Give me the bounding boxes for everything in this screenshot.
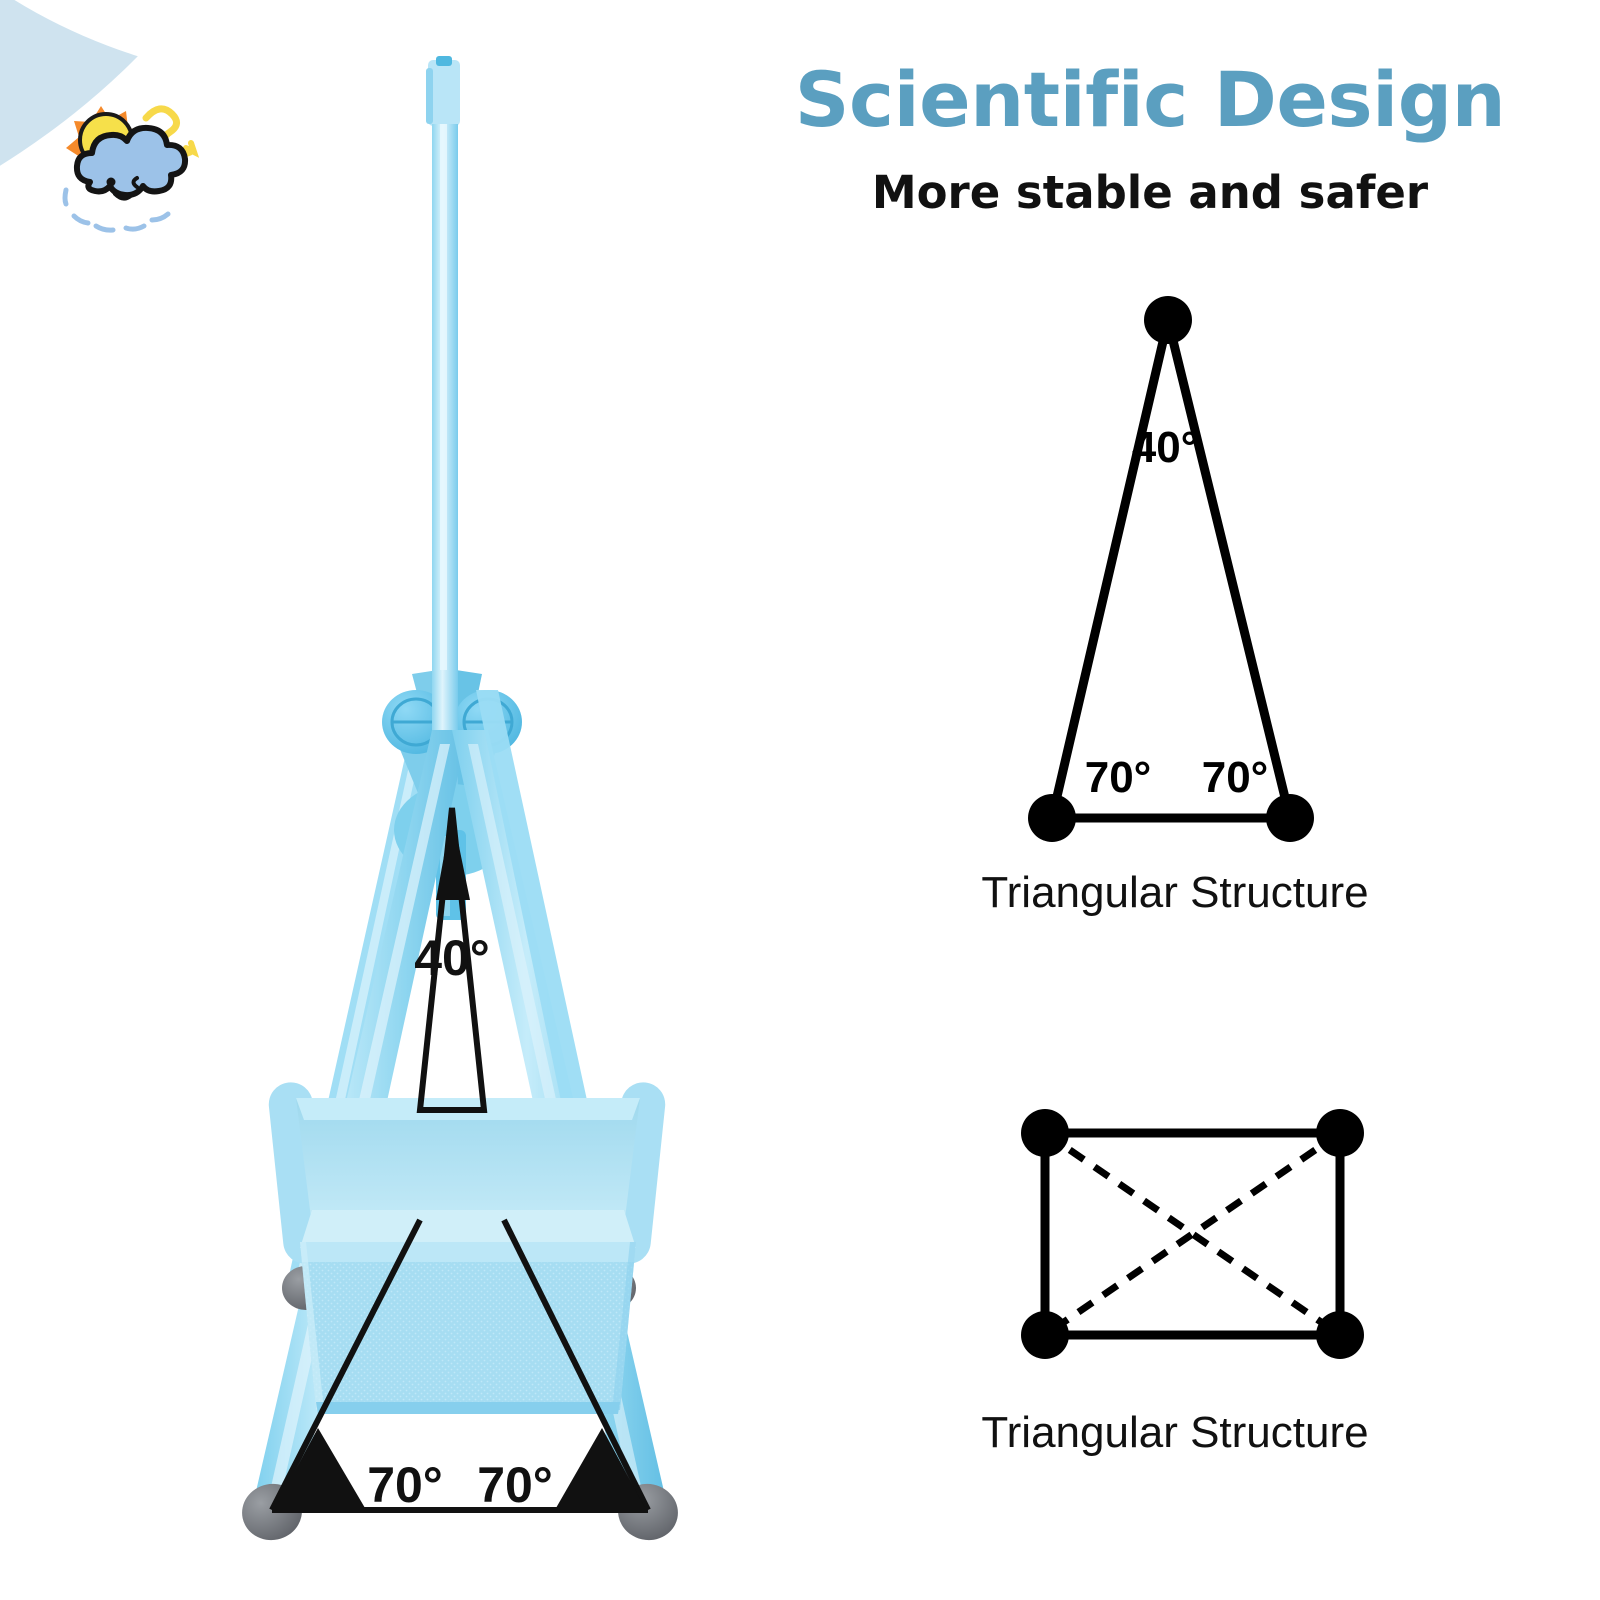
square-vertex-top-right [1316,1109,1364,1157]
page-title: Scientific Design [720,55,1580,144]
triangular-structure-diagram: 40° 70° 70° [950,280,1410,860]
square-structure-diagram [950,1070,1410,1370]
square-vertex-bottom-left [1021,1311,1069,1359]
cloud-eye-left [107,178,116,187]
left-foot-angle-label: 70° [367,1457,443,1513]
page-subtitle: More stable and safer [720,166,1580,219]
triangular-structure-caption: Triangular Structure [895,868,1455,918]
triangle-apex-angle-label: 40° [1132,423,1199,472]
triangle-base-left-angle-label: 70° [1085,753,1152,802]
right-foot-angle-label: 70° [477,1457,553,1513]
square-structure-caption: Triangular Structure [895,1408,1455,1458]
square-vertex-bottom-right [1316,1311,1364,1359]
triangle-vertex-apex [1144,296,1192,344]
square-diagonals [1045,1133,1340,1335]
triangle-vertex-base-left [1028,794,1076,842]
triangle-vertex-base-right [1266,794,1314,842]
triangle-edges [1052,320,1290,818]
square-vertex-top-left [1021,1109,1069,1157]
product-illustration: 40° 70° 70° [120,30,820,1590]
triangle-base-right-angle-label: 70° [1202,753,1269,802]
apex-angle-label: 40° [414,930,490,986]
